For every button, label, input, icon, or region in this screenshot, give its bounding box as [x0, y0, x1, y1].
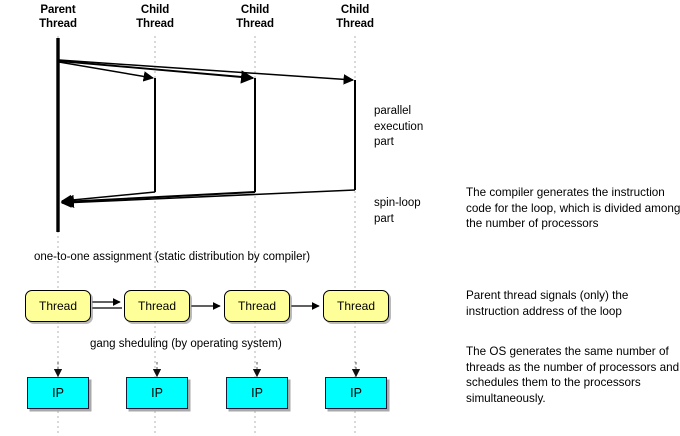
column-header-line2: Thread	[8, 18, 108, 32]
column-header-line1: Child	[205, 4, 305, 18]
schedule-arrows	[58, 362, 356, 376]
column-header-line2: Thread	[105, 18, 205, 32]
ip-box-label: IP	[52, 386, 64, 400]
scheduling-caption: gang sheduling (by operating system)	[90, 337, 282, 351]
join-arrow-2	[62, 192, 255, 202]
column-header-line2: Thread	[305, 18, 405, 32]
thread-box-1[interactable]: Thread	[25, 290, 91, 322]
thread-box-3[interactable]: Thread	[224, 290, 290, 322]
ip-box-2[interactable]: IP	[126, 377, 188, 409]
column-header-child-thread-3: Child Thread	[305, 4, 405, 31]
ip-box-3[interactable]: IP	[226, 377, 288, 409]
diagram-canvas: Parent Thread Child Thread Child Thread …	[0, 0, 680, 436]
join-arrow-1	[62, 192, 155, 201]
ip-box-1[interactable]: IP	[27, 377, 89, 409]
column-header-line2: Thread	[205, 18, 305, 32]
thread-box-label: Thread	[39, 299, 77, 313]
column-header-line1: Child	[305, 4, 405, 18]
column-guide-lines	[58, 36, 355, 436]
ip-box-label: IP	[151, 386, 163, 400]
fork-arrow-3	[59, 60, 353, 80]
ip-box-label: IP	[350, 386, 362, 400]
column-header-child-thread-1: Child Thread	[105, 4, 205, 31]
join-arrows	[62, 190, 355, 203]
join-arrow-3	[62, 190, 355, 203]
thread-box-2[interactable]: Thread	[124, 290, 190, 322]
column-header-line1: Child	[105, 4, 205, 18]
note-os: The OS generates the same number of thre…	[466, 344, 680, 406]
assignment-caption: one-to-one assignment (static distributi…	[34, 250, 310, 264]
fork-arrow-1	[59, 62, 153, 78]
column-header-line1: Parent	[8, 4, 108, 18]
ip-box-label: IP	[251, 386, 263, 400]
note-compiler: The compiler generates the instruction c…	[466, 185, 680, 232]
column-header-child-thread-2: Child Thread	[205, 4, 305, 31]
fork-arrow-2	[59, 61, 253, 78]
ip-box-4[interactable]: IP	[325, 377, 387, 409]
note-parent-signal: Parent thread signals (only) the instruc…	[466, 288, 680, 319]
column-header-parent-thread: Parent Thread	[8, 4, 108, 31]
thread-box-4[interactable]: Thread	[323, 290, 389, 322]
phase-label-spin-loop: spin-loop part	[374, 196, 421, 227]
fork-arrows	[59, 60, 353, 80]
phase-label-parallel-execution: parallel execution part	[374, 104, 423, 151]
thread-box-label: Thread	[238, 299, 276, 313]
thread-box-label: Thread	[138, 299, 176, 313]
thread-box-label: Thread	[337, 299, 375, 313]
